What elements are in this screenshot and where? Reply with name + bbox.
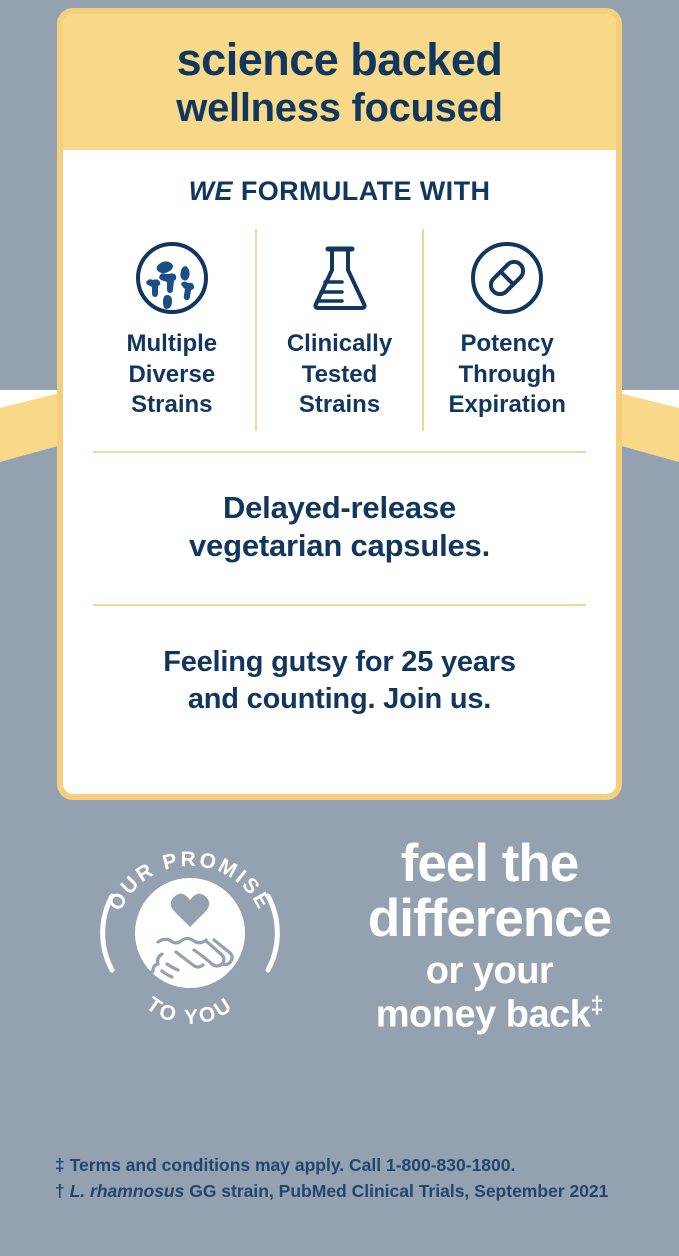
- guarantee-line4-text: money back: [376, 993, 591, 1035]
- capsule-icon: [467, 235, 547, 321]
- formulate-heading-emphasis: WE: [189, 176, 233, 206]
- closing-line1: Feeling gutsy for 25 years: [83, 644, 596, 682]
- guarantee-footnote-marker: ‡: [590, 992, 603, 1019]
- footnote-terms: ‡ Terms and conditions may apply. Call 1…: [55, 1152, 655, 1178]
- card-header: science backed wellness focused: [63, 14, 616, 150]
- feature-label-line: Multiple: [127, 329, 218, 359]
- feature-label-line: Expiration: [449, 390, 566, 420]
- footnote-strain-italic: L. rhamnosus: [70, 1181, 185, 1201]
- bacteria-strains-icon-shape: [132, 238, 212, 318]
- guarantee-line3: or your: [300, 950, 679, 993]
- features-row: Multiple Diverse Strains Clinica: [83, 229, 596, 430]
- footnotes: ‡ Terms and conditions may apply. Call 1…: [55, 1152, 655, 1205]
- feature-label-clinically-tested-strains: Clinically Tested Strains: [287, 329, 392, 420]
- footnote-terms-marker: ‡: [55, 1155, 65, 1175]
- statement-line2: vegetarian capsules.: [83, 527, 596, 565]
- feature-label-line: Tested: [287, 360, 392, 390]
- feature-multiple-diverse-strains: Multiple Diverse Strains: [89, 229, 255, 430]
- closing-text: Feeling gutsy for 25 years and counting.…: [83, 644, 596, 719]
- our-promise-badge-shape: OUR PROMISE TO YOU: [90, 838, 290, 1028]
- formulate-heading-rest: FORMULATE WITH: [233, 176, 490, 206]
- footnote-strain-marker: †: [55, 1181, 65, 1201]
- guarantee-text: feel the difference or your money back‡: [300, 828, 679, 1036]
- capsule-icon-shape: [467, 238, 547, 318]
- feature-label-line: Diverse: [127, 360, 218, 390]
- feature-label-line: Strains: [127, 390, 218, 420]
- footnote-strain-text: GG strain, PubMed Clinical Trials, Septe…: [184, 1181, 608, 1201]
- card-body: WE FORMULATE WITH: [63, 176, 616, 719]
- feature-label-multiple-diverse-strains: Multiple Diverse Strains: [127, 329, 218, 420]
- formulate-heading: WE FORMULATE WITH: [83, 176, 596, 207]
- footnote-strain: † L. rhamnosus GG strain, PubMed Clinica…: [55, 1178, 655, 1204]
- promise-section: OUR PROMISE TO YOU feel the difference o…: [0, 828, 679, 1038]
- feature-clinically-tested-strains: Clinically Tested Strains: [255, 229, 423, 430]
- header-title-line1: science backed: [81, 36, 598, 84]
- feature-label-line: Clinically: [287, 329, 392, 359]
- closing-line2: and counting. Join us.: [83, 681, 596, 719]
- bacteria-strains-icon: [132, 235, 212, 321]
- flask-icon-shape: [300, 238, 380, 318]
- header-title-line2: wellness focused: [81, 86, 598, 131]
- feature-label-line: Potency: [449, 329, 566, 359]
- statement-text: Delayed-release vegetarian capsules.: [83, 489, 596, 566]
- flask-icon: [300, 235, 380, 321]
- info-card: science backed wellness focused WE FORMU…: [57, 8, 622, 800]
- feature-label-potency-through-expiration: Potency Through Expiration: [449, 329, 566, 420]
- feature-label-line: Through: [449, 360, 566, 390]
- guarantee-line4: money back‡: [300, 993, 679, 1036]
- feature-potency-through-expiration: Potency Through Expiration: [422, 229, 590, 430]
- footnote-terms-text: Terms and conditions may apply. Call 1-8…: [65, 1155, 516, 1175]
- feature-label-line: Strains: [287, 390, 392, 420]
- statement-line1: Delayed-release: [83, 489, 596, 527]
- divider-rule-top: [93, 451, 586, 453]
- guarantee-line1: feel the: [300, 836, 679, 891]
- badge-bottom-text: TO YOU: [142, 993, 238, 1028]
- divider-rule-bottom: [93, 604, 586, 606]
- guarantee-line2: difference: [300, 891, 679, 946]
- our-promise-badge: OUR PROMISE TO YOU: [90, 838, 290, 1033]
